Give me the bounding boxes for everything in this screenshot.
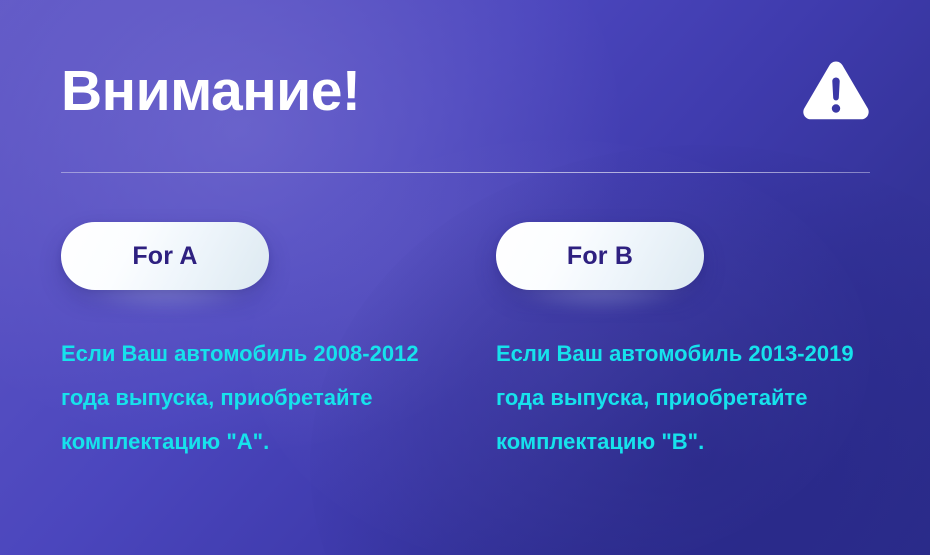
- warning-triangle-icon: [801, 60, 871, 122]
- for-a-button[interactable]: For A: [61, 222, 269, 290]
- attention-banner: Внимание! For A Если Ваш автомобиль 2008…: [0, 0, 930, 555]
- for-b-button-label: For B: [567, 242, 633, 271]
- option-b-description: Если Ваш автомобиль 2013-2019 года выпус…: [496, 332, 881, 464]
- banner-header: Внимание!: [61, 48, 871, 140]
- option-column-b: For B Если Ваш автомобиль 2013-2019 года…: [496, 222, 886, 486]
- header-divider: [61, 172, 870, 173]
- for-b-button[interactable]: For B: [496, 222, 704, 290]
- pill-wrapper-b: For B: [496, 222, 704, 290]
- for-a-button-label: For A: [132, 242, 197, 271]
- page-title: Внимание!: [61, 48, 360, 134]
- option-a-description: Если Ваш автомобиль 2008-2012 года выпус…: [61, 332, 446, 464]
- option-column-a: For A Если Ваш автомобиль 2008-2012 года…: [61, 222, 451, 486]
- pill-wrapper-a: For A: [61, 222, 269, 290]
- banner-content: Внимание! For A Если Ваш автомобиль 2008…: [0, 0, 930, 555]
